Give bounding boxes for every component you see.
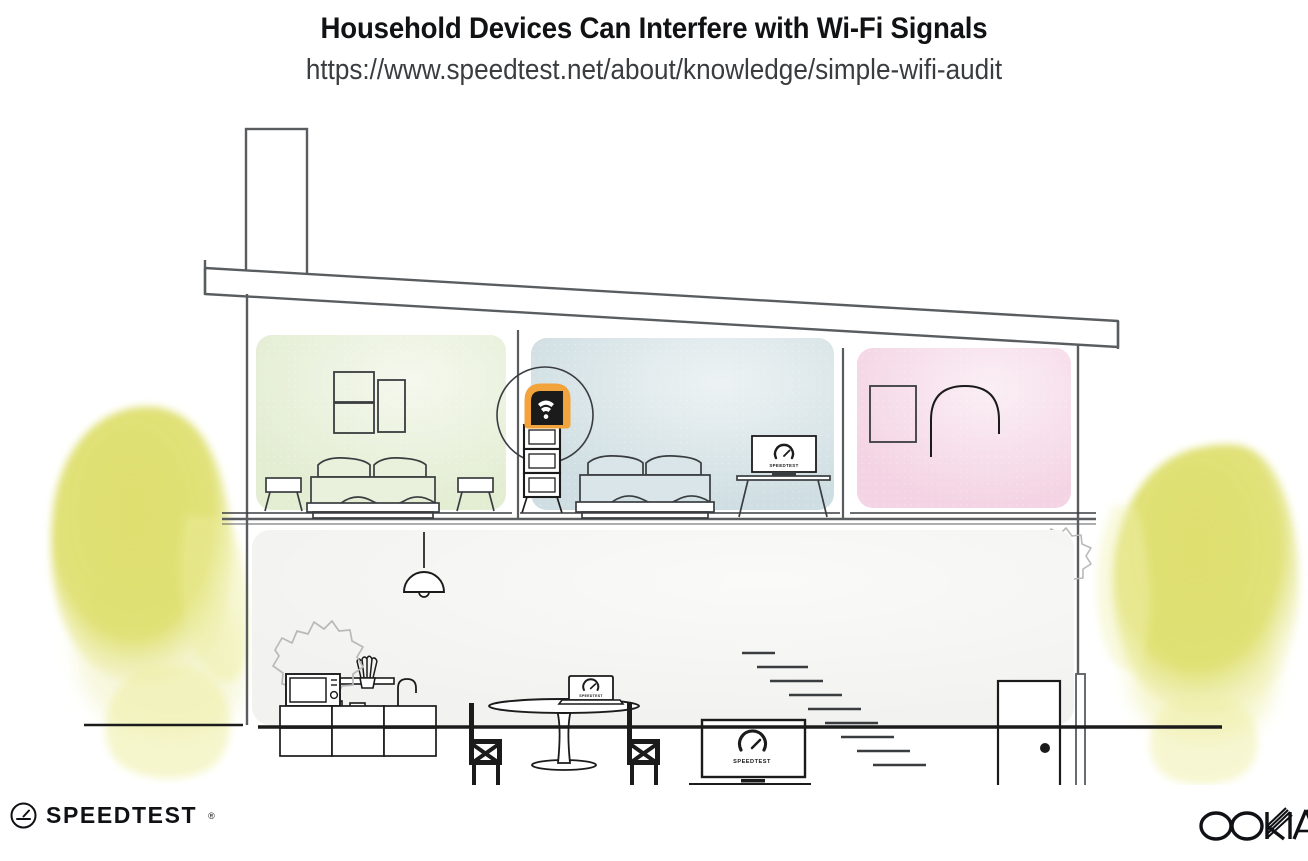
speedtest-wordmark: SPEEDTEST (46, 802, 197, 829)
foliage-left (51, 407, 249, 779)
source-url: https://www.speedtest.net/about/knowledg… (65, 52, 1242, 90)
door-knob[interactable] (1040, 743, 1050, 753)
svg-text:SPEEDTEST: SPEEDTEST (769, 463, 798, 468)
blue-bedroom: SPEEDTEST (497, 338, 840, 518)
media-console (690, 784, 810, 785)
illustration-canvas: Household Devices Can Interfere with Wi-… (0, 0, 1308, 861)
page-title: Household Devices Can Interfere with Wi-… (52, 10, 1255, 48)
svg-text:SPEEDTEST: SPEEDTEST (579, 694, 603, 698)
ground-floor-living-kitchen: SPEEDTEST (252, 530, 1085, 785)
microwave[interactable] (286, 674, 340, 706)
kitchen-counter (280, 706, 436, 756)
living-room-tv[interactable]: SPEEDTEST (702, 720, 805, 783)
svg-text:SPEEDTEST: SPEEDTEST (733, 759, 771, 765)
dining-table (489, 699, 639, 770)
speedtest-logo[interactable]: SPEEDTEST ® (10, 802, 215, 829)
desktop-monitor[interactable]: SPEEDTEST (752, 436, 816, 476)
header: Household Devices Can Interfere with Wi-… (0, 0, 1308, 89)
green-bedroom (222, 335, 512, 518)
wifi-router[interactable] (528, 387, 567, 425)
speedtest-gauge-icon (10, 802, 37, 829)
chimney (246, 129, 307, 275)
laptop[interactable]: SPEEDTEST (559, 676, 623, 704)
speedtest-registered-mark: ® (208, 811, 215, 821)
front-door[interactable] (998, 681, 1060, 785)
footer: SPEEDTEST ® (0, 790, 1308, 861)
ookla-logo[interactable] (1198, 806, 1308, 851)
ookla-wordmark (1198, 806, 1308, 846)
foliage-right (1097, 444, 1299, 784)
house-cutaway-illustration: SPEEDTEST (0, 105, 1308, 785)
